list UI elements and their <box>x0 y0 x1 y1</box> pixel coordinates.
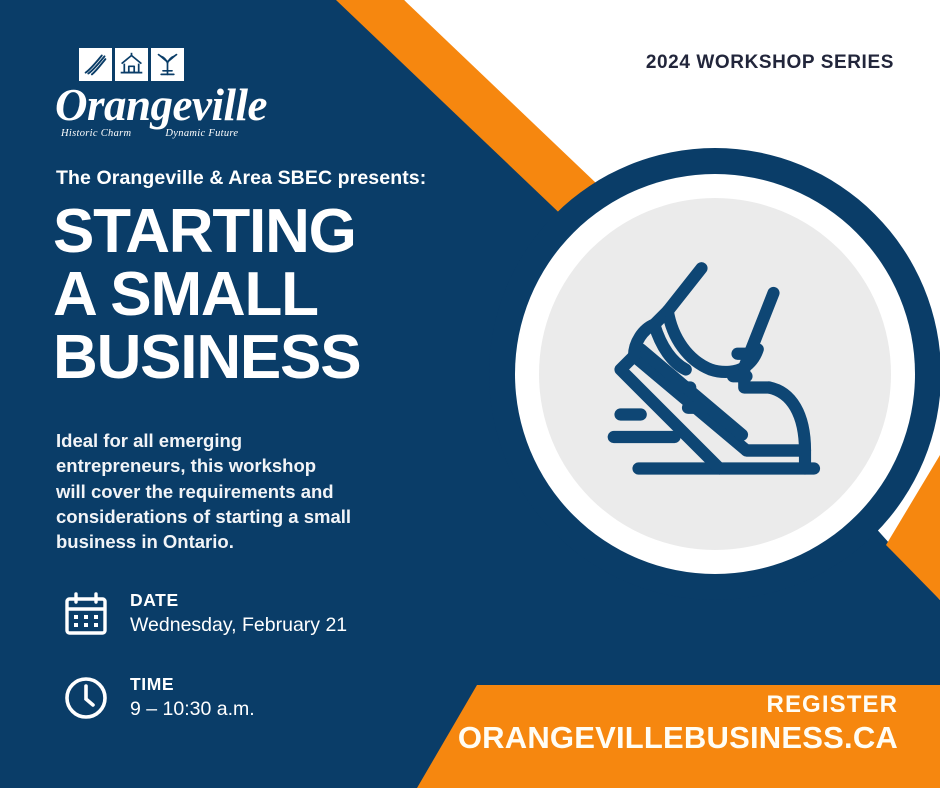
description-line-4: considerations of starting a small <box>56 504 416 529</box>
town-hall-icon <box>118 51 145 78</box>
time-value: 9 – 10:30 a.m. <box>130 697 255 722</box>
time-label: TIME <box>130 674 255 696</box>
clock-icon <box>62 674 110 722</box>
logo-tagline-left: Historic Charm <box>61 128 131 139</box>
date-value: Wednesday, February 21 <box>130 613 347 638</box>
description-text: Ideal for all emerging entrepreneurs, th… <box>56 428 416 555</box>
running-shoe-icon <box>580 239 850 509</box>
logo-mark-tile <box>151 48 184 81</box>
presenter-line: The Orangeville & Area SBEC presents: <box>56 167 426 190</box>
logo-mark-tile <box>79 48 112 81</box>
headline-line-1: STARTING <box>53 200 360 263</box>
description-line-1: Ideal for all emerging <box>56 428 416 453</box>
poster-canvas: Orangeville Historic Charm Dynamic Futur… <box>0 0 940 788</box>
date-label: DATE <box>130 590 347 612</box>
detail-text-time: TIME 9 – 10:30 a.m. <box>130 674 255 722</box>
detail-text-date: DATE Wednesday, February 21 <box>130 590 347 638</box>
register-block: REGISTER ORANGEVILLEBUSINESS.CA <box>458 691 898 756</box>
page-title: STARTING A SMALL BUSINESS <box>53 200 360 390</box>
register-label: REGISTER <box>458 691 898 719</box>
logo-tagline-right: Dynamic Future <box>165 128 238 139</box>
headline-line-2: A SMALL <box>53 263 360 326</box>
clock-icon-wrap <box>60 672 112 724</box>
description-line-5: business in Ontario. <box>56 529 416 554</box>
calendar-icon-wrap <box>60 588 112 640</box>
register-url[interactable]: ORANGEVILLEBUSINESS.CA <box>458 720 898 756</box>
shoe-emblem <box>489 148 940 600</box>
leaf-waves-icon <box>82 51 109 78</box>
detail-row-date: DATE Wednesday, February 21 <box>60 588 347 640</box>
emblem-gray-disc <box>539 198 891 550</box>
headline-line-3: BUSINESS <box>53 326 360 389</box>
logo-wordmark: Orangeville <box>55 83 285 127</box>
description-line-3: will cover the requirements and <box>56 479 416 504</box>
description-line-2: entrepreneurs, this workshop <box>56 453 416 478</box>
logo-mark-row <box>79 48 285 81</box>
calendar-icon <box>62 590 110 638</box>
logo-mark-tile <box>115 48 148 81</box>
orangeville-logo: Orangeville Historic Charm Dynamic Futur… <box>55 48 285 139</box>
fountain-icon <box>154 51 181 78</box>
workshop-series-label: 2024 WORKSHOP SERIES <box>646 52 894 74</box>
detail-row-time: TIME 9 – 10:30 a.m. <box>60 672 255 724</box>
